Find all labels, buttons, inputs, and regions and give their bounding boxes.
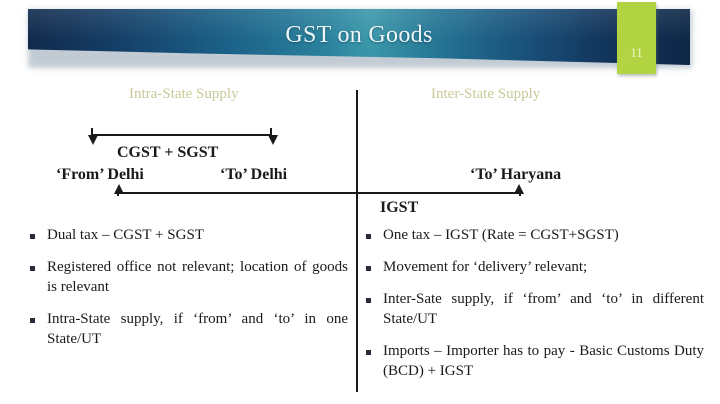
square-bullet-icon	[366, 298, 371, 303]
slide-title: GST on Goods	[28, 9, 690, 61]
square-bullet-icon	[366, 350, 371, 355]
slide-number-text: 11	[617, 2, 656, 74]
arrow-down-icon-right	[268, 135, 278, 145]
slide-header-banner: GST on Goods 11	[0, 0, 720, 78]
slide-body: Intra-State Supply Inter-State Supply CG…	[0, 78, 720, 404]
column-heading-intra-state: Intra-State Supply	[129, 86, 239, 103]
list-item: Imports – Importer has to pay - Basic Cu…	[366, 342, 704, 382]
arrow-up-icon-right	[514, 184, 524, 194]
square-bullet-icon	[30, 266, 35, 271]
list-item: Dual tax – CGST + SGST	[30, 226, 348, 246]
intra-state-arrow-bar	[92, 134, 272, 136]
label-cgst-sgst: CGST + SGST	[117, 144, 218, 162]
label-igst: IGST	[380, 199, 418, 217]
column-heading-inter-state: Inter-State Supply	[431, 86, 540, 103]
square-bullet-icon	[30, 234, 35, 239]
list-item-label: Registered office not relevant; location…	[47, 258, 348, 298]
list-item: One tax – IGST (Rate = CGST+SGST)	[366, 226, 704, 246]
node-to-haryana: ‘To’ Haryana	[470, 166, 561, 184]
supply-flow-baseline	[118, 192, 522, 194]
list-item-label: Intra-State supply, if ‘from’ and ‘to’ i…	[47, 310, 348, 350]
intra-state-bullet-list: Dual tax – CGST + SGST Registered office…	[30, 226, 348, 362]
list-item: Registered office not relevant; location…	[30, 258, 348, 298]
arrow-up-icon-left	[114, 184, 124, 194]
list-item-label: Movement for ‘delivery’ relevant;	[383, 258, 704, 278]
list-item: Inter-Sate supply, if ‘from’ and ‘to’ in…	[366, 290, 704, 330]
list-item-label: Inter-Sate supply, if ‘from’ and ‘to’ in…	[383, 290, 704, 330]
list-item-label: One tax – IGST (Rate = CGST+SGST)	[383, 226, 704, 246]
vertical-divider-line	[356, 90, 358, 392]
inter-state-bullet-list: One tax – IGST (Rate = CGST+SGST) Moveme…	[366, 226, 704, 394]
square-bullet-icon	[30, 318, 35, 323]
list-item: Intra-State supply, if ‘from’ and ‘to’ i…	[30, 310, 348, 350]
arrow-down-icon-left	[88, 135, 98, 145]
list-item-label: Imports – Importer has to pay - Basic Cu…	[383, 342, 704, 382]
list-item-label: Dual tax – CGST + SGST	[47, 226, 348, 246]
node-to-delhi: ‘To’ Delhi	[220, 166, 287, 184]
node-from-delhi: ‘From’ Delhi	[56, 166, 144, 184]
square-bullet-icon	[366, 266, 371, 271]
square-bullet-icon	[366, 234, 371, 239]
list-item: Movement for ‘delivery’ relevant;	[366, 258, 704, 278]
